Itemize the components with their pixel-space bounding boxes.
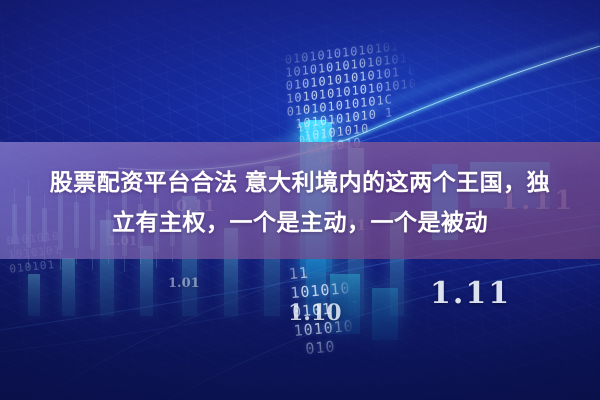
article-banner: 0101010101010101 101010101010101C 010101… bbox=[0, 0, 600, 400]
headline-text-block: 股票配资平台合法 意大利境内的这两个王国，独 立有主权，一个是主动，一个是被动 bbox=[0, 146, 600, 258]
headline-line-2: 立有主权，一个是主动，一个是被动 bbox=[112, 203, 488, 241]
top-fade-overlay bbox=[0, 0, 600, 110]
headline-line-1: 股票配资平台合法 意大利境内的这两个王国，独 bbox=[50, 163, 550, 201]
